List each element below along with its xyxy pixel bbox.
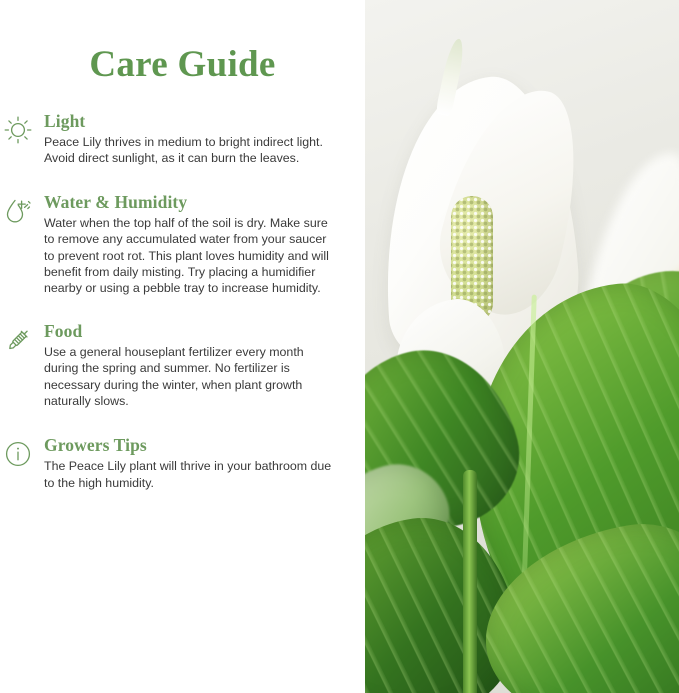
care-section-food: Food Use a general houseplant fertilizer…: [0, 321, 365, 410]
sun-icon: [2, 114, 34, 146]
syringe-icon: [2, 324, 34, 356]
care-section-water-humidity: Water & Humidity Water when the top half…: [0, 192, 365, 297]
care-guide-page: Care Guide Lig: [0, 0, 679, 693]
page-title: Care Guide: [0, 0, 365, 83]
care-section-body: Water when the top half of the soil is d…: [44, 215, 334, 297]
care-sections-list: Light Peace Lily thrives in medium to br…: [0, 83, 365, 491]
care-section-heading: Food: [44, 321, 335, 341]
care-section-heading: Light: [44, 111, 335, 131]
care-guide-panel: Care Guide Lig: [0, 0, 365, 693]
care-section-growers-tips: Growers Tips The Peace Lily plant will t…: [0, 435, 365, 491]
info-circle-icon: [2, 438, 34, 470]
care-section-heading: Water & Humidity: [44, 192, 335, 212]
plant-photo: [365, 0, 679, 693]
care-section-light: Light Peace Lily thrives in medium to br…: [0, 111, 365, 167]
plant-photo-canvas: [365, 0, 679, 693]
care-section-body: Use a general houseplant fertilizer ever…: [44, 344, 334, 410]
care-section-heading: Growers Tips: [44, 435, 335, 455]
care-section-body: Peace Lily thrives in medium to bright i…: [44, 134, 334, 167]
water-drop-sparkle-icon: [2, 195, 34, 227]
flower-stem-lower: [463, 470, 477, 693]
care-section-body: The Peace Lily plant will thrive in your…: [44, 458, 334, 491]
